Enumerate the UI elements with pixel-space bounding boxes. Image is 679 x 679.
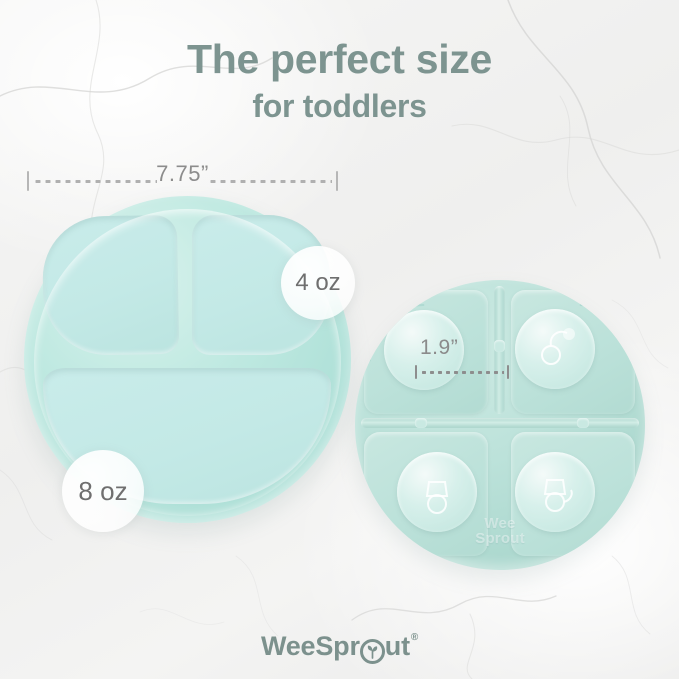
embossed-logo-line-1: Wee (355, 516, 645, 531)
dimension-dots-left (33, 180, 157, 183)
sprout-icon (360, 639, 385, 664)
dimension-label-suction-cup: 1.9” (420, 336, 458, 360)
valve-glyph-icon (515, 309, 595, 389)
embossed-logo-line-2: Sprout (355, 531, 645, 546)
registered-trademark-symbol: ® (411, 632, 418, 643)
dimension-cap-left (27, 171, 29, 191)
product-back-plate: Wee Sprout (355, 280, 645, 570)
suction-cup-top-right (515, 309, 595, 389)
dimension-cap-left-small (415, 365, 417, 379)
dimension-label-plate-diameter: 7.75” (149, 161, 216, 187)
dimension-dots-right (208, 180, 332, 183)
groove-horizontal (361, 418, 639, 428)
title-line-1: The perfect size (0, 34, 679, 84)
compartment-upper-left (42, 215, 179, 356)
brand-wordmark: WeeSpr ut ® (0, 631, 679, 662)
dimension-cap-right (336, 171, 338, 191)
status-badge-8oz: 8 oz (62, 450, 144, 532)
brand-name-part-2: ut (385, 631, 410, 662)
groove-nub-top (494, 340, 505, 352)
infographic-canvas: The perfect size for toddlers 7.75” (0, 0, 679, 679)
dimension-line-plate-diameter: 7.75” (27, 170, 338, 192)
dimension-dots-small (420, 371, 504, 374)
title-line-2: for toddlers (0, 86, 679, 126)
dimension-line-suction-cup (415, 364, 509, 380)
badge-label-8oz: 8 oz (78, 476, 127, 507)
badge-label-4oz: 4 oz (295, 269, 340, 297)
brand-name-part-1: WeeSpr (261, 631, 360, 662)
embossed-brand-logo: Wee Sprout (355, 516, 645, 546)
dimension-cap-right-small (507, 365, 509, 379)
status-badge-4oz: 4 oz (281, 246, 355, 320)
page-title: The perfect size for toddlers (0, 34, 679, 126)
